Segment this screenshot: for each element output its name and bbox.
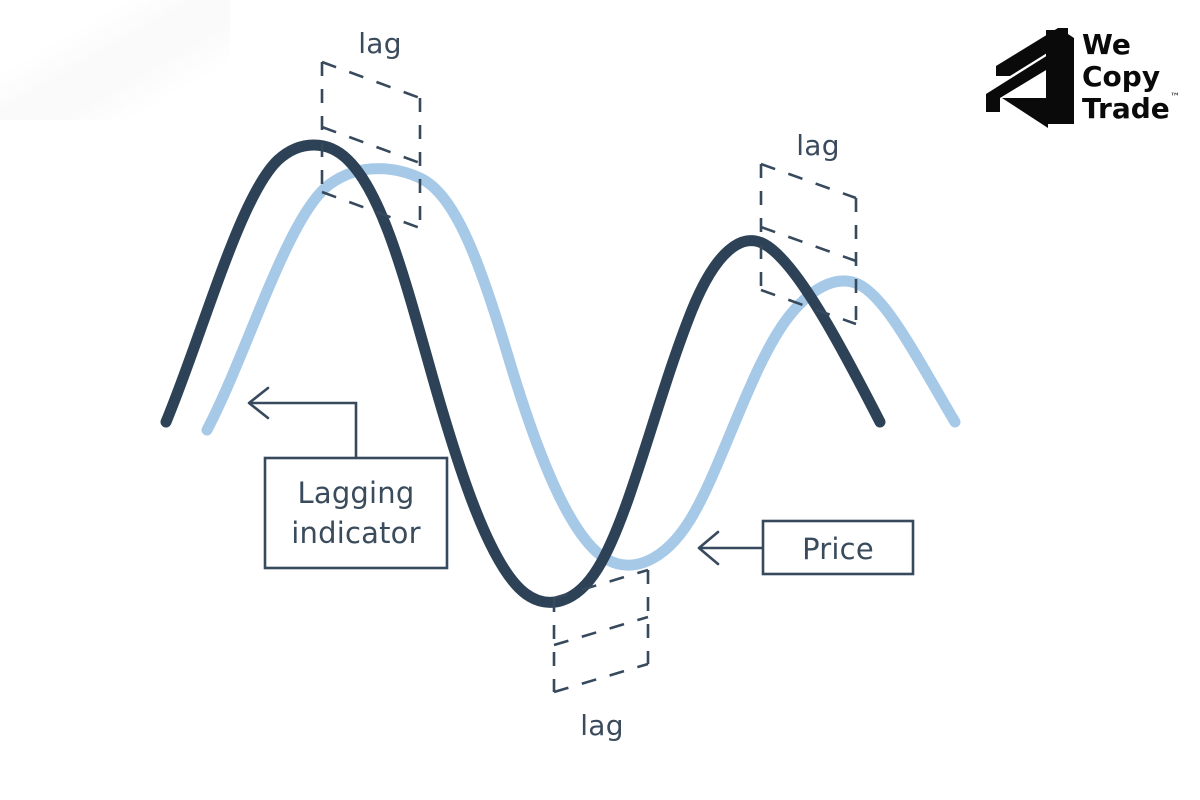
lag-marker-top-edge	[761, 164, 856, 198]
lag-label-peak-2: lag	[796, 129, 840, 162]
lag-label-peak-1: lag	[358, 27, 402, 60]
brand-line-3: Trade	[1082, 92, 1170, 125]
price-callout[interactable]: Price	[699, 521, 913, 574]
lagging-indicator-callout[interactable]: Lagging indicator	[249, 388, 447, 568]
lagging-indicator-label-line1: Lagging	[298, 476, 415, 510]
lag-marker-top-edge	[554, 570, 648, 598]
lagging-indicator-leader-line	[250, 403, 356, 458]
brand-line-2: Copy	[1082, 60, 1160, 93]
lag-marker-top-edge	[322, 62, 420, 98]
lag-marker-bottom-edge	[554, 664, 648, 692]
brand-line-1: We	[1082, 28, 1131, 61]
lagging-indicator-label-line2: indicator	[291, 516, 420, 550]
trademark-symbol: ™	[1170, 92, 1180, 103]
lag-label-trough-1: lag	[580, 709, 624, 742]
diagram-canvas: lag lag lag Lagging indicator	[0, 0, 1200, 800]
we-copy-trade-wordmark: We Copy Trade ™	[1082, 28, 1180, 125]
lag-marker-mid-edge	[554, 617, 648, 645]
we-copy-trade-logo[interactable]: We Copy Trade ™	[986, 20, 1182, 132]
lagging-indicator-box[interactable]	[265, 458, 447, 568]
we-copy-trade-arrow-mark	[986, 28, 1074, 128]
price-label: Price	[802, 532, 874, 566]
